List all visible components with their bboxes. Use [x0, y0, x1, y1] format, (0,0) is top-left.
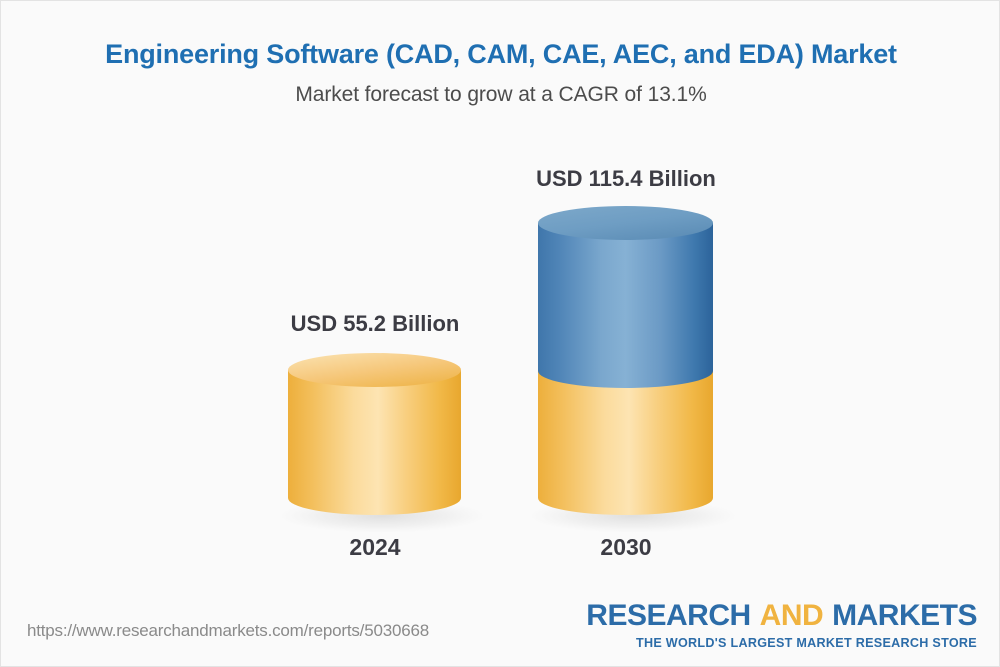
bar-2024-body	[288, 370, 461, 515]
logo-word-markets: MARKETS	[832, 599, 977, 632]
logo-tagline: THE WORLD'S LARGEST MARKET RESEARCH STOR…	[586, 636, 977, 650]
research-and-markets-logo[interactable]: RESEARCHANDMARKETS THE WORLD'S LARGEST M…	[586, 601, 977, 650]
bar-2030-segment-base	[538, 371, 713, 515]
bar-2024-top	[288, 353, 461, 387]
bar-2024-value-label: USD 55.2 Billion	[275, 311, 475, 337]
logo-wordmark: RESEARCHANDMARKETS	[586, 601, 977, 631]
logo-word-and: AND	[760, 599, 824, 632]
bar-2024-category-label: 2024	[295, 534, 455, 561]
logo-word-research: RESEARCH	[586, 599, 750, 632]
bar-2030-value-label: USD 115.4 Billion	[521, 166, 731, 192]
chart-canvas: Engineering Software (CAD, CAM, CAE, AEC…	[0, 0, 1000, 667]
bar-2030-top	[538, 206, 713, 240]
bar-2030-segment-growth	[538, 223, 713, 388]
bar-2030[interactable]	[528, 206, 738, 533]
bar-2024[interactable]	[278, 353, 486, 533]
bar-2030-category-label: 2030	[546, 534, 706, 561]
report-url[interactable]: https://www.researchandmarkets.com/repor…	[27, 621, 429, 641]
chart-plot-area	[1, 1, 1000, 667]
